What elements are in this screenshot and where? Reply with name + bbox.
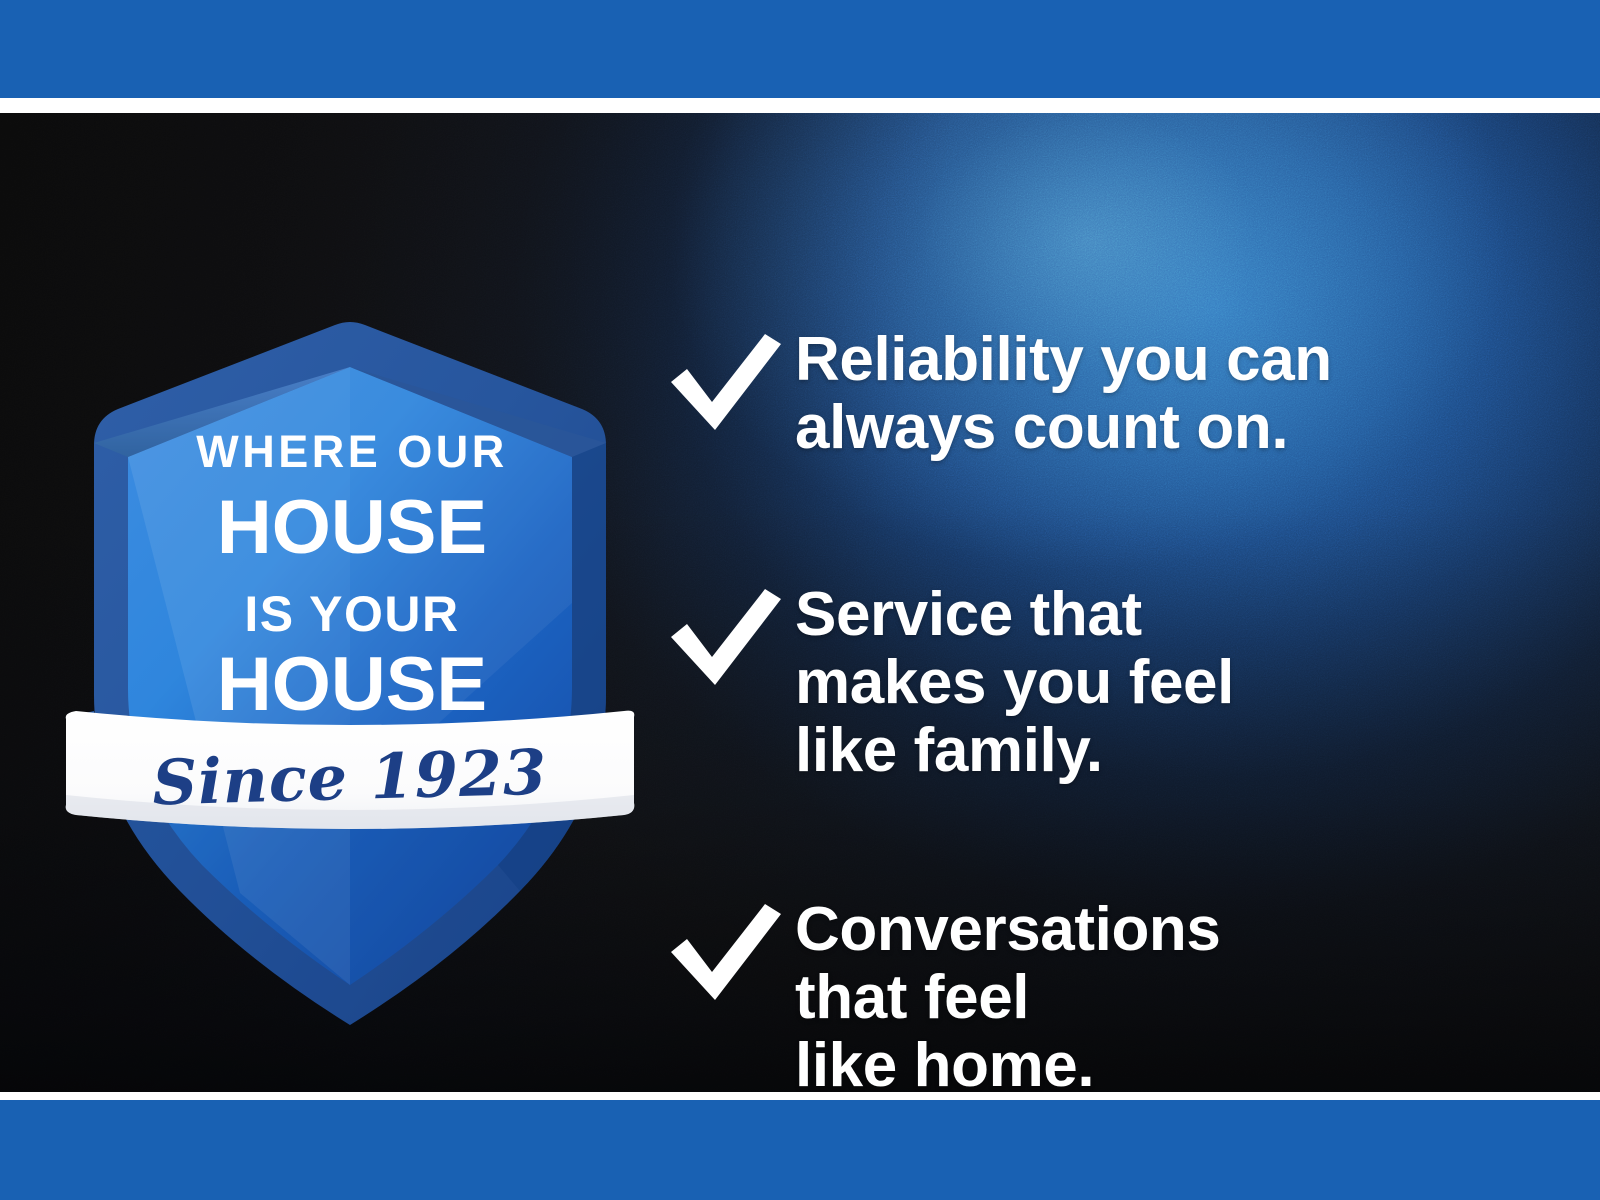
bottom-brand-bar <box>0 1100 1600 1200</box>
benefit-item: Reliability you can always count on. <box>665 326 1545 462</box>
benefit-text: Conversations that feel like home. <box>795 896 1545 1092</box>
benefit-item: Conversations that feel like home. <box>665 896 1545 1092</box>
checkmark-icon <box>665 326 795 434</box>
benefit-item: Service that makes you feel like family. <box>665 581 1545 786</box>
shield-line-3: IS YOUR <box>244 586 459 642</box>
shield-line-2: HOUSE <box>217 485 487 570</box>
since-ribbon: Since 1923 <box>66 711 635 829</box>
shield-line-1: WHERE OUR <box>196 426 508 477</box>
benefit-text: Reliability you can always count on. <box>795 326 1545 462</box>
promo-poster: WHERE OUR HOUSE IS YOUR HOUSE Since 1923 <box>0 0 1600 1200</box>
ribbon-label: Since 1923 <box>151 736 548 820</box>
top-brand-bar <box>0 0 1600 98</box>
shield-line-4: HOUSE <box>217 642 487 727</box>
checkmark-icon <box>665 581 795 689</box>
checkmark-icon <box>665 896 795 1004</box>
poster-stage: WHERE OUR HOUSE IS YOUR HOUSE Since 1923 <box>0 113 1600 1092</box>
benefits-list: Reliability you can always count on. Ser… <box>665 226 1545 1092</box>
benefit-text: Service that makes you feel like family. <box>795 581 1545 786</box>
heritage-shield-badge: WHERE OUR HOUSE IS YOUR HOUSE Since 1923 <box>50 243 650 1053</box>
